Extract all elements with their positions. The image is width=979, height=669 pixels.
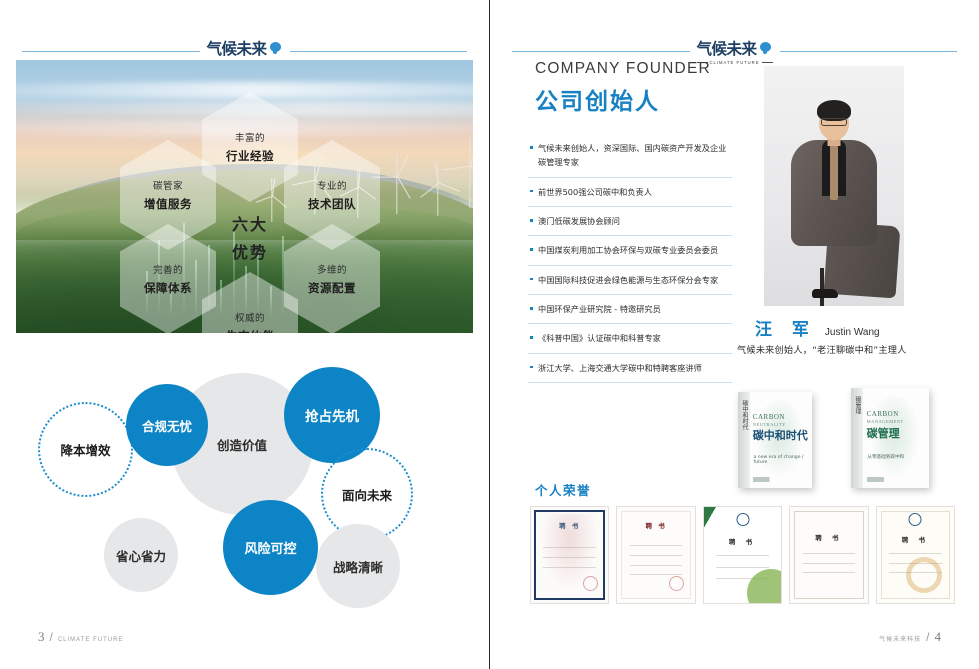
portrait-tie <box>830 145 838 200</box>
official-seal-icon <box>909 513 922 526</box>
published-books: 碳中和时代 CARBON NEUTRALITY 碳中和时代 a new era … <box>738 388 953 493</box>
association-badge-icon <box>736 513 749 526</box>
left-page: 气候未来 CLIMATE FUTURE <box>0 0 489 669</box>
hex-line2: 行业经验 <box>226 148 274 164</box>
certificate-heading: 聘 书 <box>902 534 929 544</box>
book-carbon-management: 碳管理 CARBON MANAGEMENT 碳管理 从零基础到碳中和 <box>851 388 929 488</box>
value-bubble-diagram: 创造价值 降本增效 合规无忧 抢占先机 面向未来 战略清晰 <box>16 360 473 615</box>
hex-line1: 丰富的 <box>235 130 265 144</box>
hex-line1: 碳管家 <box>153 178 183 192</box>
six-advantages-hex-diagram: 丰富的 行业经验 专业的 技术团队 多维的 资源配置 权威的 生态伙伴 <box>16 60 473 333</box>
bubble-label: 降本增效 <box>60 440 110 459</box>
left-page-footer: 3 / CLIMATE FUTURE <box>38 629 123 645</box>
hex-resource-allocation: 多维的 资源配置 <box>284 224 380 333</box>
bio-item: 中国国际科技促进会绿色能源与生态环保分会专家 <box>528 266 732 295</box>
lightbulb-icon <box>759 42 772 55</box>
bio-item: 中国环保产业研究院 - 特邀研究员 <box>528 295 732 324</box>
lightbulb-icon <box>269 42 282 55</box>
left-page-number: 3 <box>38 629 45 645</box>
bubble-compliance[interactable]: 合规无忧 <box>126 384 208 466</box>
founder-name-cn: 汪 军 <box>755 315 816 340</box>
founder-bio-list: 气候未来创始人，资深国际、国内碳资产开发及企业碳管理专家 前世界500强公司碳中… <box>528 134 732 383</box>
section-title-cn: 公司创始人 <box>535 82 660 116</box>
hex-line1: 多维的 <box>317 262 347 276</box>
hex-center-six-advantages: 六大 优势 <box>202 182 298 292</box>
certificate-item[interactable]: 聘 书 <box>789 506 868 604</box>
bio-item: 中国煤炭利用加工协会环保与双碳专业委员会委员 <box>528 236 732 265</box>
certificate-item[interactable]: 聘 书 <box>703 506 782 604</box>
bubble-effortless[interactable]: 省心省力 <box>104 518 178 592</box>
hex-center-line2: 优势 <box>232 239 268 263</box>
header-rule-right <box>290 51 468 52</box>
hex-line2: 增值服务 <box>144 196 192 212</box>
hex-center-line1: 六大 <box>232 211 268 235</box>
hex-line1: 完善的 <box>153 262 183 276</box>
bubble-risk-control[interactable]: 风险可控 <box>223 500 318 595</box>
bubble-label: 省心省力 <box>116 546 166 565</box>
right-page-footer: 气候未来科技 / 4 <box>879 629 941 645</box>
bubble-clear-strategy[interactable]: 战略清晰 <box>316 524 400 608</box>
right-footer-slash: / <box>926 630 929 644</box>
book-title-cn: 碳中和时代 <box>753 430 808 442</box>
glasses-icon <box>821 118 847 126</box>
book-spine-text: 碳管理 <box>853 396 862 414</box>
publisher-mark <box>867 477 911 482</box>
certificate-heading: 聘 书 <box>645 520 666 530</box>
certificate-heading: 聘 书 <box>559 520 580 530</box>
founder-portrait-photo <box>764 66 904 306</box>
hex-line2: 生态伙伴 <box>226 328 274 333</box>
hex-line1: 权威的 <box>235 310 265 324</box>
certificate-heading: 聘 书 <box>815 532 842 542</box>
hex-carbon-butler-service: 碳管家 增值服务 <box>120 140 216 250</box>
founder-name-en: Justin Wang <box>825 327 880 338</box>
certificates-gallery: 聘 书 聘 书 聘 书 聘 书 聘 书 <box>530 506 955 604</box>
founder-name-block: 汪 军 Justin Wang <box>755 315 880 340</box>
logo-dash-right-r <box>762 62 773 63</box>
header-rule-left-r <box>512 51 690 52</box>
honors-heading: 个人荣誉 <box>535 480 591 499</box>
header-rule-right-r <box>780 51 958 52</box>
brand-logo-en-right: CLIMATE FUTURE <box>710 60 760 65</box>
bubble-label: 创造价值 <box>217 435 267 454</box>
bubble-label: 合规无忧 <box>142 416 192 435</box>
hex-line2: 技术团队 <box>308 196 356 212</box>
section-title-en: COMPANY FOUNDER <box>535 60 711 78</box>
book-subtitle: a new era of change / future <box>754 455 812 465</box>
bubble-label: 面向未来 <box>342 485 392 504</box>
header-rule-left <box>22 51 200 52</box>
hex-line2: 资源配置 <box>308 280 356 296</box>
hex-line2: 保障体系 <box>144 280 192 296</box>
brand-logo-main: 气候未来 <box>207 37 283 59</box>
bio-item: 浙江大学、上海交通大学碳中和特聘客座讲师 <box>528 354 732 383</box>
book-carbon-neutrality: 碳中和时代 CARBON NEUTRALITY 碳中和时代 a new era … <box>738 392 812 488</box>
hero-landscape-image: 丰富的 行业经验 专业的 技术团队 多维的 资源配置 权威的 生态伙伴 <box>16 60 473 333</box>
brand-logo-cn-left: 气候未来 <box>207 37 267 59</box>
certificate-item[interactable]: 聘 书 <box>530 506 609 604</box>
bubble-label: 风险可控 <box>244 538 296 557</box>
book-spine-text: 碳中和时代 <box>740 400 749 430</box>
bio-item: 前世界500强公司碳中和负责人 <box>528 178 732 207</box>
certificate-item[interactable]: 聘 书 <box>876 506 955 604</box>
bubble-label: 抢占先机 <box>305 405 359 425</box>
hex-line1: 专业的 <box>317 178 347 192</box>
left-footer-slash: / <box>50 630 53 644</box>
book-title-en-1: CARBON <box>753 413 785 421</box>
brand-logo-main-r: 气候未来 <box>697 37 773 59</box>
right-footer-label: 气候未来科技 <box>879 634 921 643</box>
bio-item: 气候未来创始人，资深国际、国内碳资产开发及企业碳管理专家 <box>528 134 732 178</box>
certificate-heading: 聘 书 <box>729 536 756 546</box>
book-title-en-2: NEUTRALITY <box>753 422 786 427</box>
portrait-figure <box>764 66 904 306</box>
book-subtitle: 从零基础到碳中和 <box>867 454 904 460</box>
bubble-cost-reduction[interactable]: 降本增效 <box>38 402 133 497</box>
book-title-cn: 碳管理 <box>867 428 900 440</box>
left-footer-label: CLIMATE FUTURE <box>58 637 124 643</box>
brochure-spread: 气候未来 CLIMATE FUTURE <box>0 0 979 669</box>
book-title-en-2: MANAGEMENT <box>867 419 904 424</box>
brand-logo-cn-right: 气候未来 <box>697 37 757 59</box>
portrait-shoe <box>812 289 838 298</box>
founder-tagline: 气候未来创始人，“老汪聊碳中和”主理人 <box>737 342 907 356</box>
bio-item: 澳门低碳发展协会顾问 <box>528 207 732 236</box>
bio-item: 《科普中国》认证碳中和科普专家 <box>528 324 732 353</box>
book-title-en-1: CARBON <box>867 410 899 418</box>
right-page-number: 4 <box>935 629 942 645</box>
publisher-mark <box>753 477 794 482</box>
certificate-item[interactable]: 聘 书 <box>616 506 695 604</box>
bubble-label: 战略清晰 <box>333 557 383 576</box>
